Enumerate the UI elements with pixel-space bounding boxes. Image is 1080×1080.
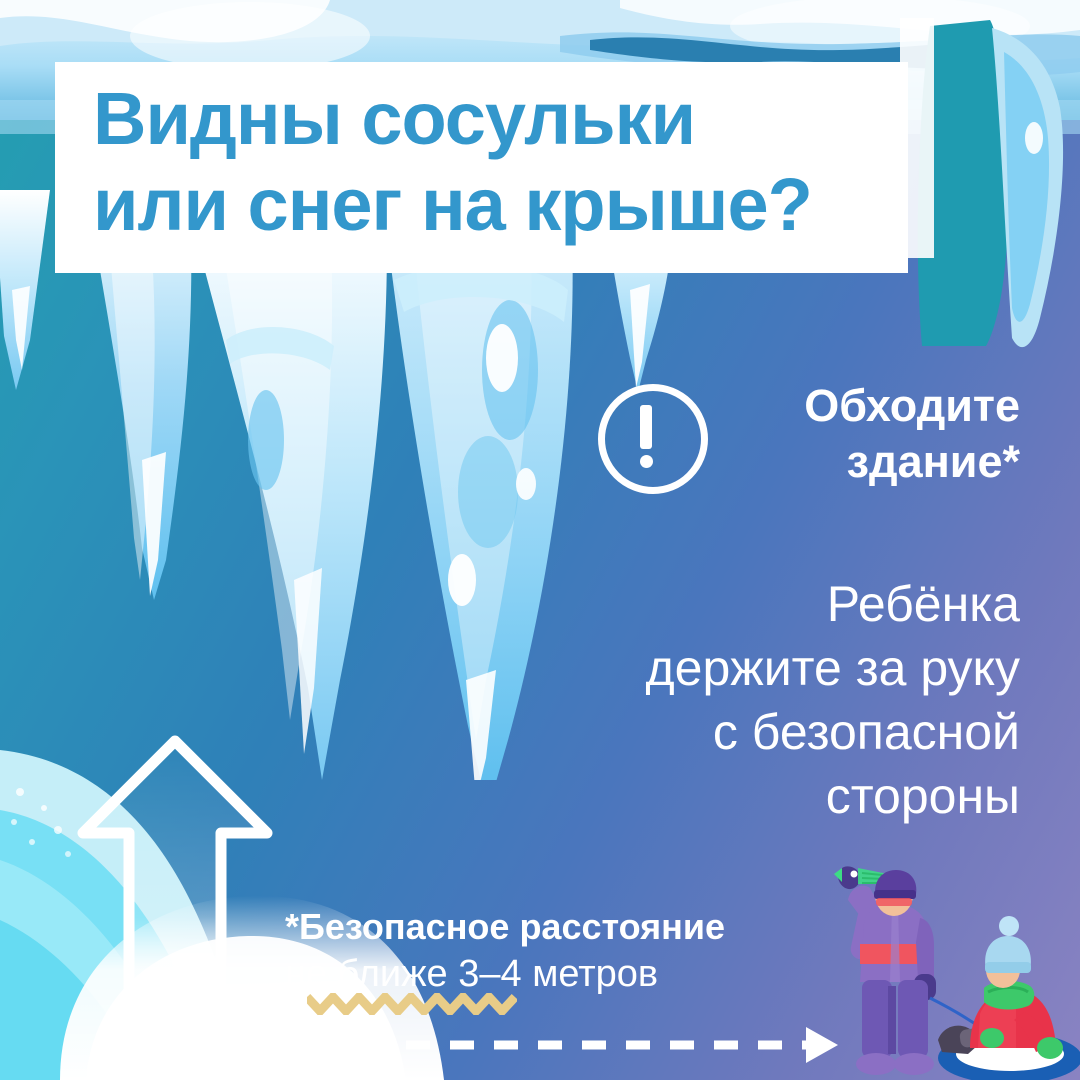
warning-text: Обходите здание* xyxy=(720,378,1020,490)
ice-block-right xyxy=(900,18,1080,348)
child-figure xyxy=(938,916,1080,1080)
winter-people-illustration xyxy=(810,862,1080,1080)
exclamation-bar-icon xyxy=(640,405,652,449)
adult-boot-left xyxy=(856,1053,896,1075)
footnote-bold-text: Безопасное расстояние xyxy=(299,906,725,947)
child-mitten-left xyxy=(980,1028,1004,1048)
zigzag-underline-icon xyxy=(307,993,517,1015)
adult-leg-right xyxy=(898,980,928,1058)
exclamation-circle-icon xyxy=(598,384,708,494)
poster-canvas: Видны сосульки или снег на крыше? Обходи… xyxy=(0,0,1080,1080)
arrow-head-left xyxy=(242,1027,274,1063)
footnote-bold-line: *Безопасное расстояние xyxy=(285,905,825,949)
title-line-2: или снег на крыше? xyxy=(93,162,908,248)
warning-line-1: Обходите xyxy=(720,378,1020,434)
advice-line-1: Ребёнка xyxy=(430,572,1020,636)
advice-line-2: держите за руку xyxy=(430,636,1020,700)
advice-text: Ребёнка держите за руку с безопасной сто… xyxy=(430,572,1020,828)
footnote-star: * xyxy=(285,906,299,947)
advice-line-4: стороны xyxy=(430,764,1020,828)
distance-measure-arrow xyxy=(240,1022,840,1068)
title-banner: Видны сосульки или снег на крыше? xyxy=(55,62,908,273)
child-mitten-right xyxy=(1037,1037,1063,1059)
adult-leg-left xyxy=(862,980,892,1058)
adult-boot-right xyxy=(894,1053,934,1075)
hat-pompom xyxy=(999,916,1019,936)
footnote-regular-text: не ближе 3–4 метров xyxy=(285,951,825,997)
warning-line-2: здание* xyxy=(720,434,1020,490)
advice-line-3: с безопасной xyxy=(430,700,1020,764)
title-line-1: Видны сосульки xyxy=(93,76,908,162)
warning-block: Обходите здание* xyxy=(590,378,1020,500)
footnote-block: *Безопасное расстояние не ближе 3–4 метр… xyxy=(285,905,825,997)
exclamation-dot-icon xyxy=(640,455,653,468)
